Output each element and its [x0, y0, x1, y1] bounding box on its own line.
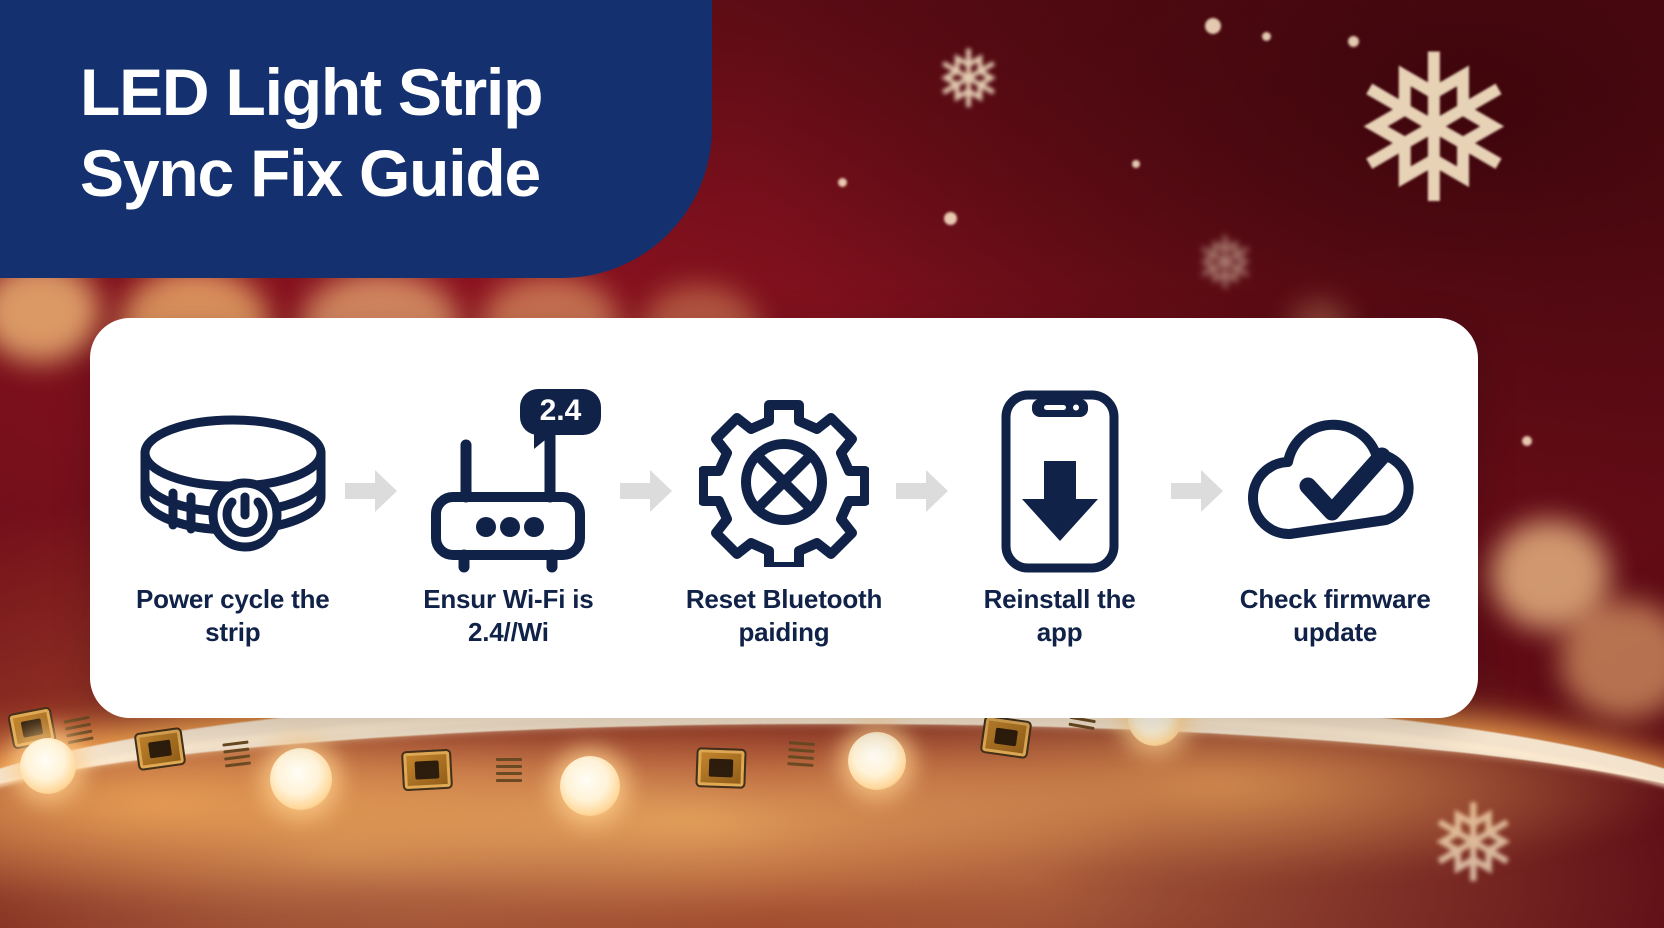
step-label: Ensur Wi-Fi is 2.4//Wi	[423, 583, 593, 650]
flow-arrow-icon	[893, 470, 951, 512]
step-check-firmware[interactable]: Check firmware update	[1226, 387, 1444, 650]
page-title: LED Light Strip Sync Fix Guide	[80, 52, 542, 213]
led-chip	[695, 747, 746, 789]
led-light-dot	[848, 732, 906, 790]
snow-speck	[944, 212, 957, 225]
led-light-dot	[20, 738, 76, 794]
led-chip	[401, 749, 453, 792]
infographic-canvas: ❅ ❅ ❅ ❅ LED Light Strip Sync Fix Guide	[0, 0, 1664, 928]
led-solder-pads	[64, 716, 95, 748]
step-label: Reset Bluetooth paiding	[686, 583, 882, 650]
snow-speck	[838, 178, 847, 187]
snowflake-icon: ❅	[935, 40, 1002, 120]
flow-arrow-icon	[342, 470, 400, 512]
phone-download-icon	[951, 387, 1169, 577]
wifi-router-icon: 2.4	[400, 387, 618, 577]
led-solder-pads	[222, 741, 251, 772]
step-power-cycle[interactable]: Power cycle the strip	[124, 387, 342, 650]
step-reinstall-app[interactable]: Reinstall the app	[951, 387, 1169, 650]
snow-speck	[1262, 32, 1271, 41]
led-chip	[134, 727, 187, 771]
led-light-dot	[560, 756, 620, 816]
led-chip	[980, 715, 1033, 759]
led-light-dot	[270, 748, 332, 810]
snow-speck	[1522, 436, 1532, 446]
step-label: Check firmware update	[1240, 583, 1431, 650]
flow-arrow-icon	[617, 470, 675, 512]
step-label: Power cycle the strip	[136, 583, 330, 650]
snow-speck	[1132, 160, 1140, 168]
led-strip-highlight	[0, 704, 1664, 928]
led-strip-power-icon	[124, 387, 342, 577]
step-reset-bluetooth[interactable]: Reset Bluetooth paiding	[675, 387, 893, 650]
gear-bluetooth-reset-icon	[675, 387, 893, 577]
cloud-check-icon	[1226, 387, 1444, 577]
led-solder-pads	[496, 758, 522, 786]
snowflake-icon: ❅	[1195, 228, 1255, 300]
steps-card: Power cycle the strip 2.4 Ensur	[90, 318, 1478, 718]
step-wifi-band[interactable]: 2.4 Ensur Wi-Fi is 2.4//Wi	[400, 387, 618, 650]
snow-speck	[1205, 18, 1221, 34]
snow-speck	[1348, 36, 1359, 47]
snowflake-icon: ❅	[1348, 28, 1520, 233]
led-solder-pads	[787, 741, 815, 771]
flow-arrow-icon	[1168, 470, 1226, 512]
wifi-band-badge: 2.4	[520, 389, 602, 435]
step-label: Reinstall the app	[984, 583, 1136, 650]
title-banner: LED Light Strip Sync Fix Guide	[0, 0, 712, 278]
